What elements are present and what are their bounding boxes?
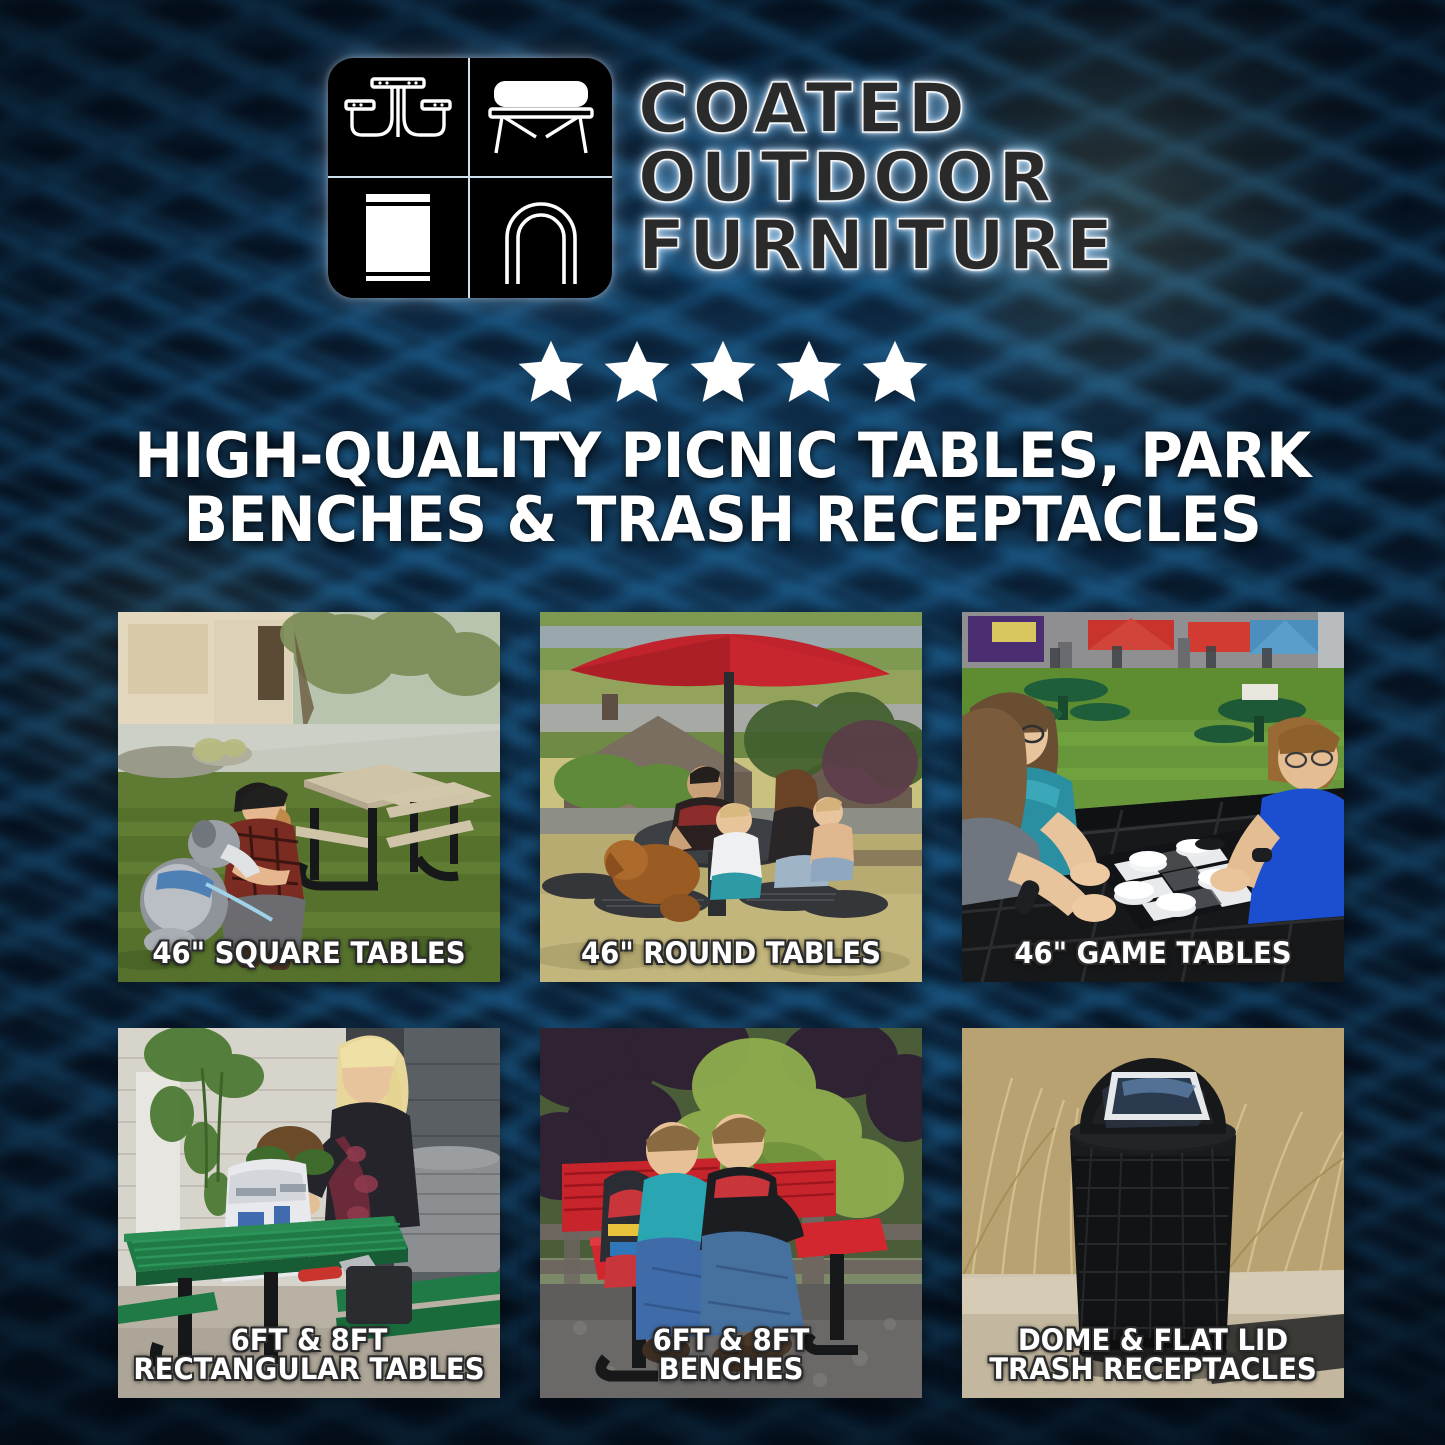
product-caption: 46" SQUARE TABLES [128,939,491,968]
brand-line-3: FURNITURE [638,213,1117,280]
product-tile-trash-receptacles[interactable]: DOME & FLAT LID TRASH RECEPTACLES [962,1028,1344,1398]
product-caption-line-1: 46" SQUARE TABLES [152,936,465,970]
product-caption: 6FT & 8FT BENCHES [550,1326,913,1384]
product-tile-round-tables[interactable]: 46" ROUND TABLES [540,612,922,982]
product-caption: 6FT & 8FT RECTANGULAR TABLES [128,1326,491,1384]
product-tile-square-tables[interactable]: 46" SQUARE TABLES [118,612,500,982]
product-caption-line-1: 46" ROUND TABLES [581,936,881,970]
star-icon [859,336,931,408]
product-caption-line-2: RECTANGULAR TABLES [128,1355,491,1384]
product-caption: 46" ROUND TABLES [550,939,913,968]
bench-icon [470,58,612,178]
product-photo [540,612,922,982]
product-caption: DOME & FLAT LID TRASH RECEPTACLES [972,1326,1335,1384]
star-icon [515,336,587,408]
star-icon [687,336,759,408]
product-caption-line-1: 46" GAME TABLES [1014,936,1291,970]
headline: HIGH-QUALITY PICNIC TABLES, PARK BENCHES… [100,424,1346,552]
product-caption-line-2: TRASH RECEPTACLES [972,1355,1335,1384]
headline-line-1: HIGH-QUALITY PICNIC TABLES, PARK [100,424,1346,488]
product-tile-rectangular-tables[interactable]: 6FT & 8FT RECTANGULAR TABLES [118,1028,500,1398]
product-tile-benches[interactable]: 6FT & 8FT BENCHES [540,1028,922,1398]
trash-receptacle-icon [328,178,470,298]
product-photo [962,612,1344,982]
product-photo [118,612,500,982]
product-grid: 46" SQUARE TABLES [118,612,1344,1398]
bike-rack-arch-icon [470,178,612,298]
product-caption: 46" GAME TABLES [972,939,1335,968]
brand-line-1: COATED [638,76,1117,143]
logo-icon-grid [328,58,612,298]
product-tile-game-tables[interactable]: 46" GAME TABLES [962,612,1344,982]
brand-line-2: OUTDOOR [638,145,1117,212]
product-caption-line-2: BENCHES [550,1355,913,1384]
star-icon [773,336,845,408]
brand-logo: COATED OUTDOOR FURNITURE [0,58,1445,298]
brand-wordmark: COATED OUTDOOR FURNITURE [638,76,1117,281]
star-icon [601,336,673,408]
star-rating [0,336,1445,408]
picnic-table-icon [328,58,470,178]
headline-line-2: BENCHES & TRASH RECEPTACLES [100,488,1346,552]
